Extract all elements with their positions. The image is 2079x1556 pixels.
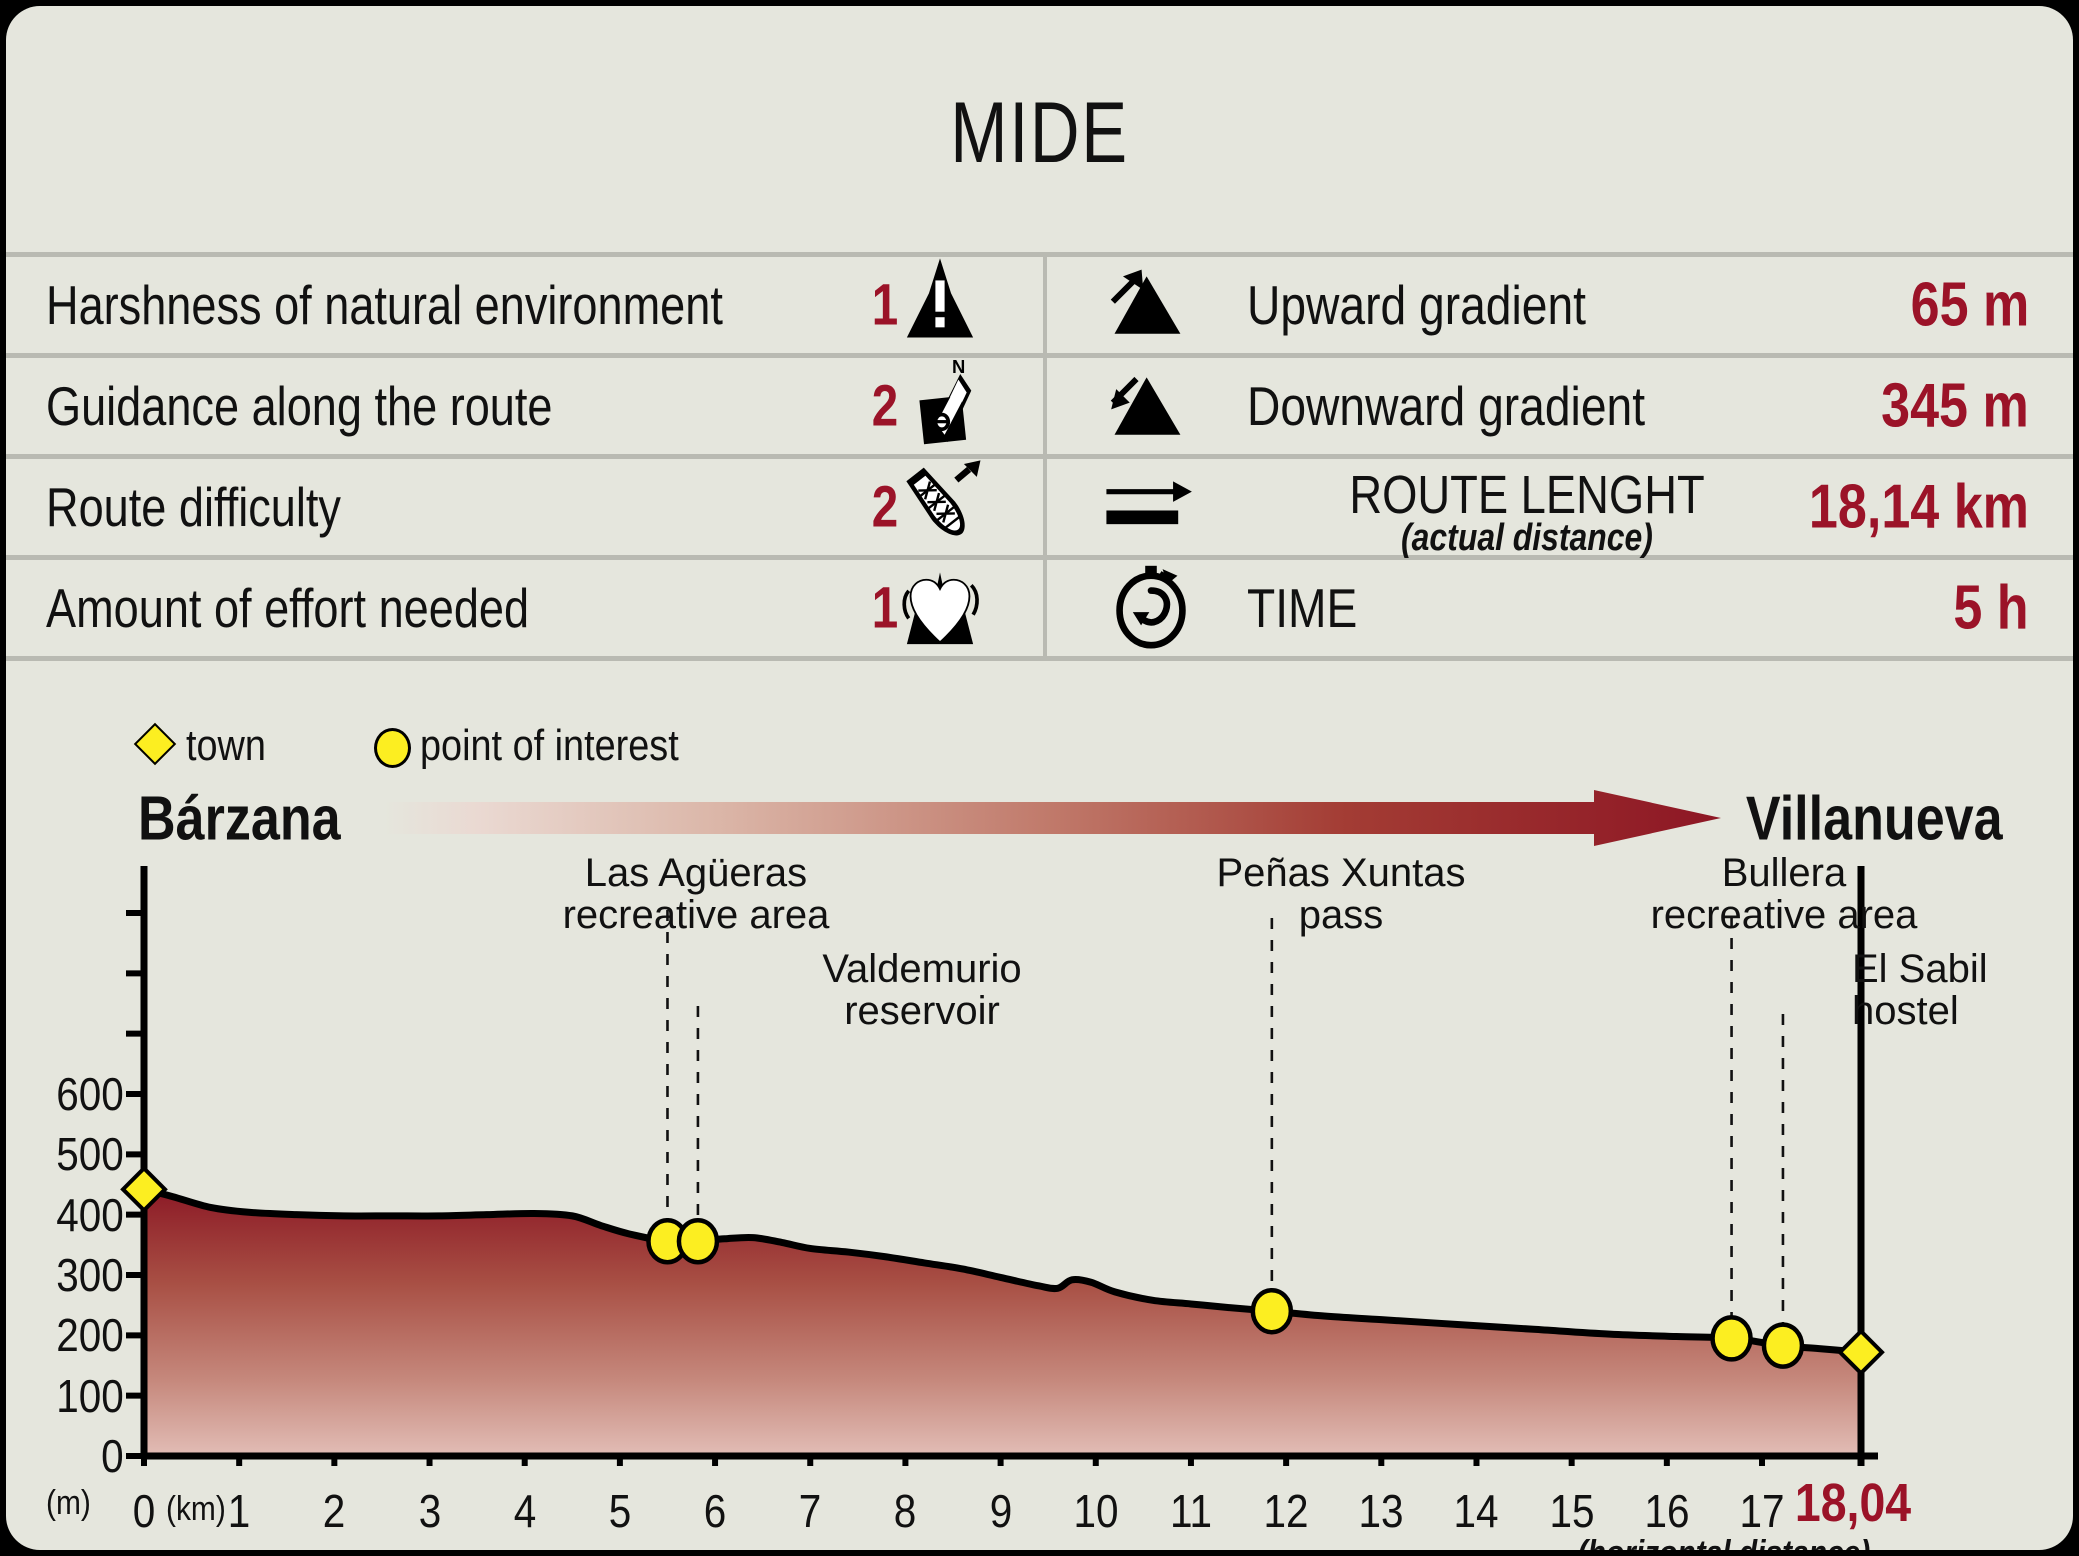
x-axis-caption: (horizontal distance) (1578, 1534, 1871, 1550)
stat-row-time[interactable]: TIME 5 h (1047, 560, 2073, 656)
route-start-town: Bárzana (138, 784, 341, 855)
mide-card: MIDE Harshness of natural environment 1 … (6, 6, 2073, 1550)
x-axis-tick-label: 17 (1739, 1484, 1784, 1538)
x-axis-tick-label: 6 (704, 1484, 727, 1538)
rating-row-difficulty[interactable]: Route difficulty 2 (6, 459, 1043, 555)
mide-infographic-frame: MIDE Harshness of natural environment 1 … (0, 0, 2079, 1556)
y-axis-tick-label: 200 (56, 1308, 124, 1362)
mountain-down-icon (1107, 366, 1193, 447)
rating-label: Harshness of natural environment (46, 273, 723, 337)
stat-row-upward-gradient[interactable]: Upward gradient 65 m (1047, 257, 2073, 353)
diamond-marker-icon (134, 723, 176, 765)
y-axis-tick-label: 400 (56, 1188, 124, 1242)
rating-label: Guidance along the route (46, 374, 553, 438)
x-axis-tick-label: 1 (228, 1484, 251, 1538)
y-axis-unit: (m) (46, 1484, 91, 1523)
stat-label: ROUTE LENGHT (1292, 471, 1762, 521)
heart-effort-icon (894, 560, 986, 657)
stat-value: 5 h (1954, 573, 2029, 644)
stat-sublabel: (actual distance) (1292, 521, 1762, 556)
stat-label: Downward gradient (1247, 374, 1645, 438)
stat-row-route-length[interactable]: ROUTE LENGHT (actual distance) 18,14 km (1047, 459, 2073, 555)
x-axis-tick-label: 2 (323, 1484, 346, 1538)
rating-row-harshness[interactable]: Harshness of natural environment 1 (6, 257, 1043, 353)
rating-label: Amount of effort needed (46, 576, 529, 640)
page-title: MIDE (213, 84, 1867, 183)
elevation-profile-chart: Las Agüeras recreative area Valdemurio r… (6, 866, 2073, 1466)
y-axis-tick-label: 300 (56, 1248, 124, 1302)
x-axis-tick-label: 5 (609, 1484, 632, 1538)
legend-label: town (186, 721, 266, 771)
stat-row-downward-gradient[interactable]: Downward gradient 345 m (1047, 358, 2073, 454)
x-axis-tick-label: 15 (1549, 1484, 1594, 1538)
legend-label: point of interest (420, 721, 679, 771)
stat-value: 18,14 km (1809, 472, 2029, 543)
svg-text:N: N (952, 358, 965, 378)
x-axis-tick-label: 11 (1170, 1484, 1212, 1538)
x-axis-tick-label: 16 (1644, 1484, 1689, 1538)
stopwatch-icon (1109, 563, 1193, 654)
y-axis-tick-label: 0 (101, 1429, 124, 1483)
circle-marker-icon (374, 728, 411, 768)
rating-row-guidance[interactable]: Guidance along the route 2 N (6, 358, 1043, 454)
x-axis-tick-label: 8 (894, 1484, 917, 1538)
y-axis-tick-labels: 0100200300400500600 (6, 866, 124, 1466)
compass-orientation-icon: N (894, 358, 986, 455)
rating-label: Route difficulty (46, 475, 341, 539)
x-axis-end-label: 18,04 (1795, 1472, 1911, 1534)
mountain-up-icon (1107, 265, 1193, 346)
x-axis-tick-label: 0 (133, 1484, 156, 1538)
y-axis-tick-label: 600 (56, 1067, 124, 1121)
x-axis-tick-label: 13 (1359, 1484, 1404, 1538)
rating-row-effort[interactable]: Amount of effort needed 1 (6, 560, 1043, 656)
x-axis-tick-label: 7 (799, 1484, 822, 1538)
severity-warning-icon (894, 257, 986, 354)
chart-legend: town point of interest (6, 718, 2073, 774)
x-axis-tick-label: 9 (989, 1484, 1012, 1538)
x-axis-tick-label: 12 (1264, 1484, 1309, 1538)
boot-terrain-icon (894, 459, 986, 556)
route-direction-bar: Bárzana Villanueva (6, 778, 2073, 860)
x-axis-tick-label: 10 (1073, 1484, 1118, 1538)
y-axis-tick-label: 100 (56, 1369, 124, 1423)
y-axis-tick-label: 500 (56, 1127, 124, 1181)
distance-arrow-icon (1103, 474, 1197, 541)
stat-label: TIME (1247, 576, 1357, 640)
right-arrow-gradient-icon (384, 790, 1721, 846)
stat-value: 65 m (1910, 270, 2029, 341)
route-end-town: Villanueva (1746, 784, 2003, 855)
x-axis-tick-label: 14 (1454, 1484, 1499, 1538)
x-axis-tick-label: 4 (513, 1484, 536, 1538)
x-axis-tick-label: 3 (418, 1484, 441, 1538)
table-divider (6, 656, 2073, 661)
stat-value: 345 m (1881, 371, 2029, 442)
x-axis-unit: (km) (166, 1490, 226, 1529)
stat-label-block: ROUTE LENGHT (actual distance) (1292, 471, 1762, 556)
stat-label: Upward gradient (1247, 273, 1586, 337)
